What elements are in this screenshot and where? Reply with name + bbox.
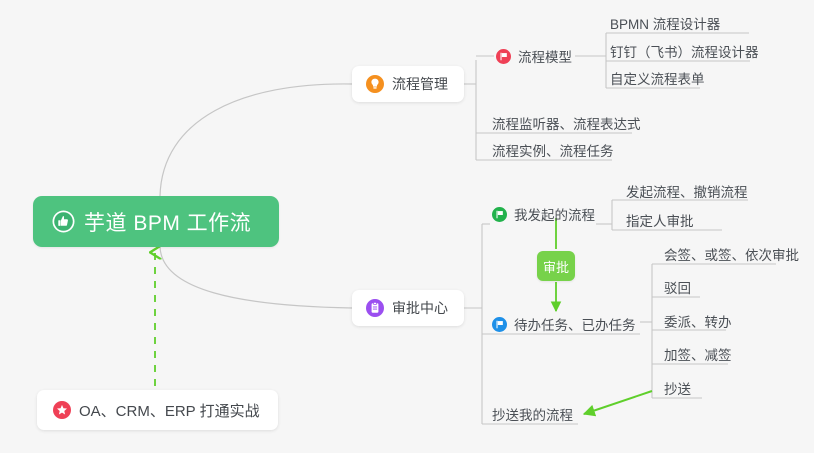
node-label-reject: 驳回 bbox=[664, 277, 691, 297]
node-reject[interactable]: 驳回 bbox=[662, 274, 699, 300]
lightbulb-icon bbox=[366, 75, 384, 93]
flag-icon-green bbox=[492, 207, 507, 222]
approval-badge: 审批 bbox=[537, 251, 575, 281]
node-label-multi-sign: 会签、或签、依次审批 bbox=[664, 244, 799, 264]
node-cc-to-me[interactable]: 抄送我的流程 bbox=[490, 401, 581, 427]
branch-node-process-management[interactable]: 流程管理 bbox=[352, 66, 464, 102]
node-custom-form[interactable]: 自定义流程表单 bbox=[608, 65, 713, 91]
node-add-remove-sign[interactable]: 加签、减签 bbox=[662, 341, 740, 367]
callout-label-integration: OA、CRM、ERP 打通实战 bbox=[79, 400, 260, 421]
node-label-start-cancel-process: 发起流程、撤销流程 bbox=[626, 181, 748, 201]
star-icon bbox=[53, 401, 71, 419]
node-start-cancel-process[interactable]: 发起流程、撤销流程 bbox=[624, 178, 756, 204]
node-todo-done-tasks[interactable]: 待办任务、已办任务 bbox=[490, 311, 644, 337]
node-label-process-model: 流程模型 bbox=[518, 46, 572, 66]
node-label-todo-done-tasks: 待办任务、已办任务 bbox=[514, 314, 636, 334]
node-label-my-started-processes: 我发起的流程 bbox=[514, 204, 595, 224]
root-label: 芋道 BPM 工作流 bbox=[84, 207, 251, 237]
node-listener-expression[interactable]: 流程监听器、流程表达式 bbox=[490, 110, 649, 136]
callout-node-integration[interactable]: OA、CRM、ERP 打通实战 bbox=[37, 390, 278, 430]
node-process-model[interactable]: 流程模型 bbox=[494, 43, 580, 69]
flag-icon-red bbox=[496, 49, 511, 64]
node-assignee-approval[interactable]: 指定人审批 bbox=[624, 207, 702, 233]
node-label-bpmn-designer: BPMN 流程设计器 bbox=[610, 13, 720, 33]
node-my-started-processes[interactable]: 我发起的流程 bbox=[490, 201, 603, 227]
mindmap-canvas: 芋道 BPM 工作流 流程管理 流程模型 BPMN 流程设计器 钉钉（飞书）流程… bbox=[0, 0, 814, 453]
node-label-listener-expression: 流程监听器、流程表达式 bbox=[492, 113, 641, 133]
clipboard-icon bbox=[366, 299, 384, 317]
node-dingtalk-designer[interactable]: 钉钉（飞书）流程设计器 bbox=[608, 38, 767, 64]
root-node[interactable]: 芋道 BPM 工作流 bbox=[33, 196, 279, 247]
node-label-cc: 抄送 bbox=[664, 378, 691, 398]
node-delegate-transfer[interactable]: 委派、转办 bbox=[662, 308, 740, 334]
node-label-add-remove-sign: 加签、减签 bbox=[664, 344, 732, 364]
node-label-cc-to-me: 抄送我的流程 bbox=[492, 404, 573, 424]
approval-badge-label: 审批 bbox=[543, 257, 569, 276]
node-bpmn-designer[interactable]: BPMN 流程设计器 bbox=[608, 10, 728, 36]
node-cc[interactable]: 抄送 bbox=[662, 375, 699, 401]
cc-link-arrow bbox=[584, 391, 652, 414]
node-instance-task[interactable]: 流程实例、流程任务 bbox=[490, 137, 622, 163]
node-label-dingtalk-designer: 钉钉（飞书）流程设计器 bbox=[610, 41, 759, 61]
node-label-custom-form: 自定义流程表单 bbox=[610, 68, 705, 88]
thumbs-up-icon bbox=[52, 210, 75, 233]
node-label-assignee-approval: 指定人审批 bbox=[626, 210, 694, 230]
flag-icon-blue bbox=[492, 317, 507, 332]
branch-label-approval-center: 审批中心 bbox=[392, 298, 448, 318]
node-label-instance-task: 流程实例、流程任务 bbox=[492, 140, 614, 160]
branch-label-process-management: 流程管理 bbox=[392, 74, 448, 94]
node-label-delegate-transfer: 委派、转办 bbox=[664, 311, 732, 331]
node-multi-sign[interactable]: 会签、或签、依次审批 bbox=[662, 241, 807, 267]
branch-node-approval-center[interactable]: 审批中心 bbox=[352, 290, 464, 326]
